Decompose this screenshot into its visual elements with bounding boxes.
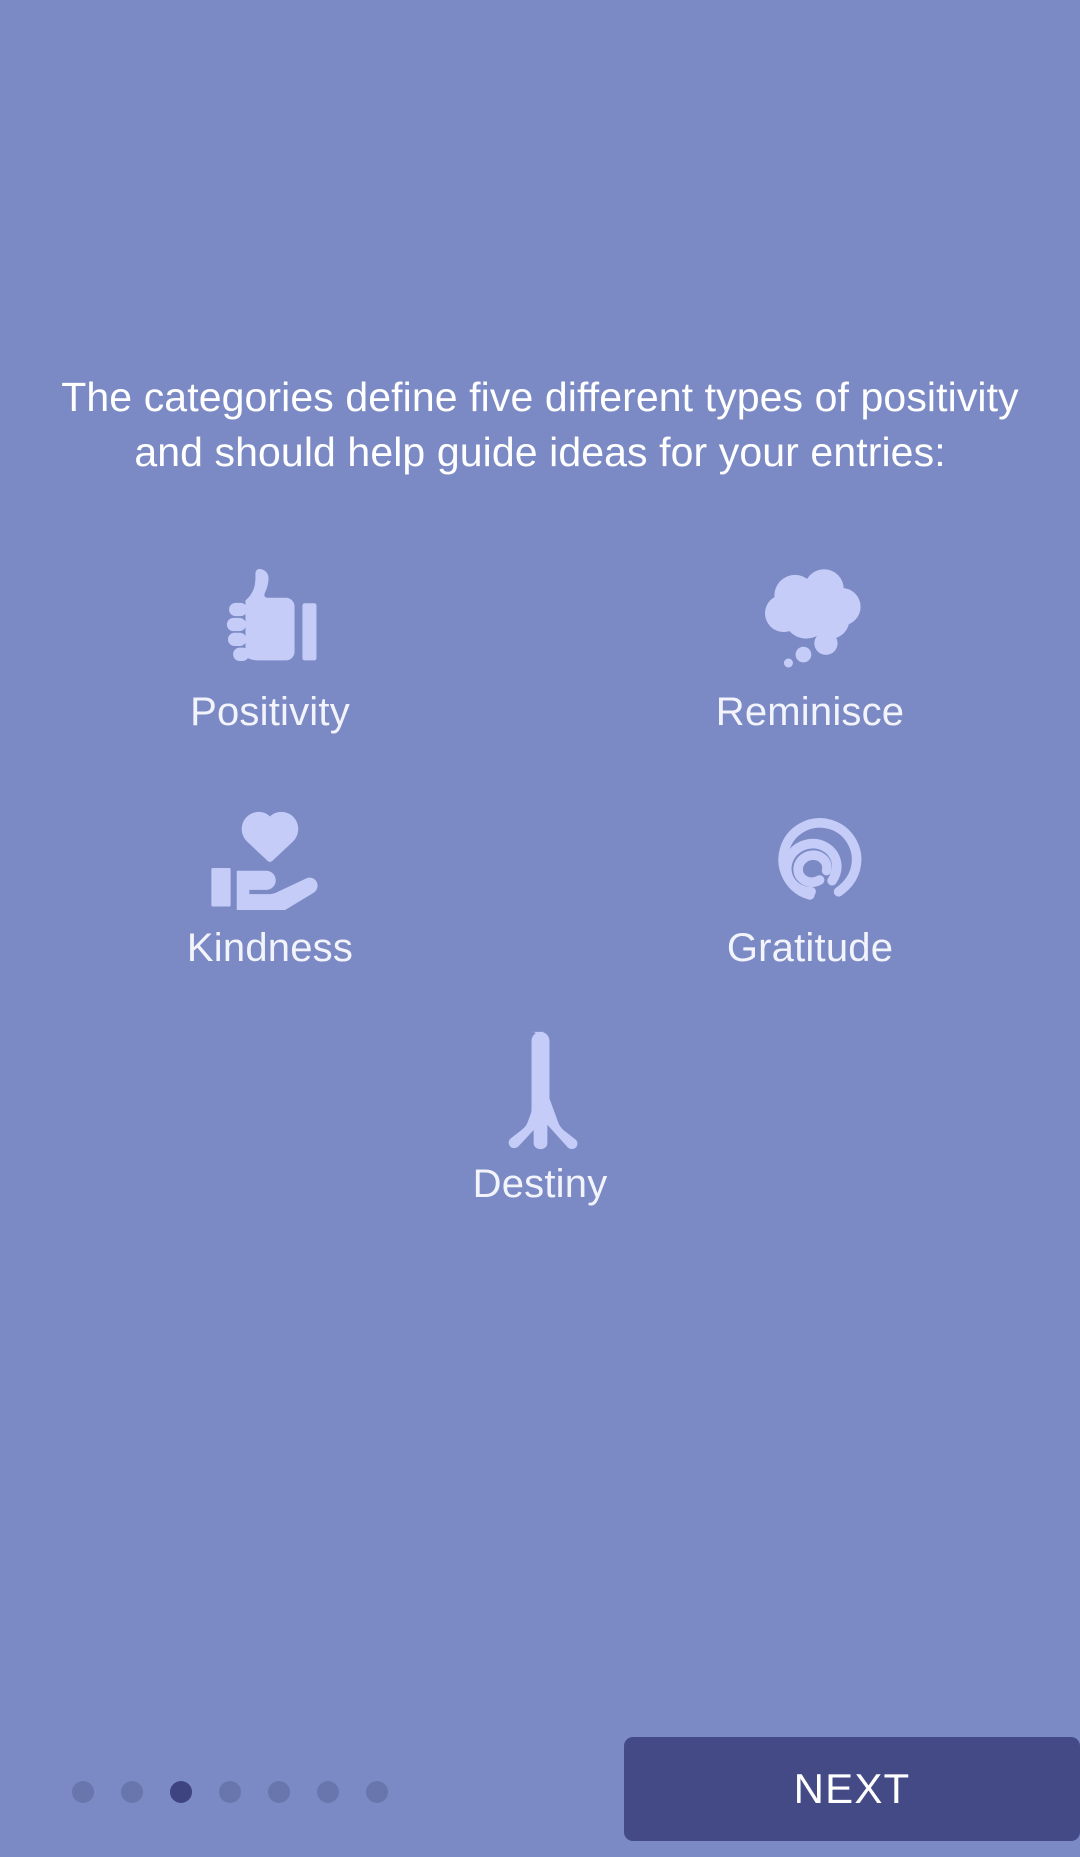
category-label: Reminisce bbox=[716, 688, 905, 736]
bottom-bar: NEXT bbox=[0, 1722, 1080, 1857]
praying-hands-icon bbox=[483, 1027, 598, 1152]
pagination-dot-3-active[interactable] bbox=[170, 1781, 192, 1803]
category-item-positivity[interactable]: Positivity bbox=[0, 555, 540, 791]
category-label: Gratitude bbox=[727, 924, 893, 972]
intro-text-container: The categories define five different typ… bbox=[0, 370, 1080, 480]
spiral-icon bbox=[751, 791, 869, 916]
category-label: Kindness bbox=[187, 924, 353, 972]
pagination-dot-7[interactable] bbox=[366, 1781, 388, 1803]
category-grid: Positivity bbox=[0, 555, 1080, 1263]
pagination-dot-5[interactable] bbox=[268, 1781, 290, 1803]
heart-in-hand-icon bbox=[207, 791, 333, 916]
intro-paragraph: The categories define five different typ… bbox=[46, 370, 1034, 480]
category-item-reminisce[interactable]: Reminisce bbox=[540, 555, 1080, 791]
pagination-dot-4[interactable] bbox=[219, 1781, 241, 1803]
pagination-dot-6[interactable] bbox=[317, 1781, 339, 1803]
category-label: Destiny bbox=[473, 1160, 608, 1208]
pagination-dot-1[interactable] bbox=[72, 1781, 94, 1803]
pagination-dot-2[interactable] bbox=[121, 1781, 143, 1803]
thought-bubble-icon bbox=[750, 555, 870, 680]
next-button[interactable]: NEXT bbox=[624, 1737, 1080, 1841]
onboarding-screen: The categories define five different typ… bbox=[0, 0, 1080, 1857]
category-item-kindness[interactable]: Kindness bbox=[0, 791, 540, 1027]
category-item-destiny[interactable]: Destiny bbox=[0, 1027, 1080, 1263]
pagination-dots bbox=[72, 1781, 388, 1803]
category-label: Positivity bbox=[190, 688, 350, 736]
category-item-gratitude[interactable]: Gratitude bbox=[540, 791, 1080, 1027]
thumbs-up-icon bbox=[211, 555, 329, 680]
